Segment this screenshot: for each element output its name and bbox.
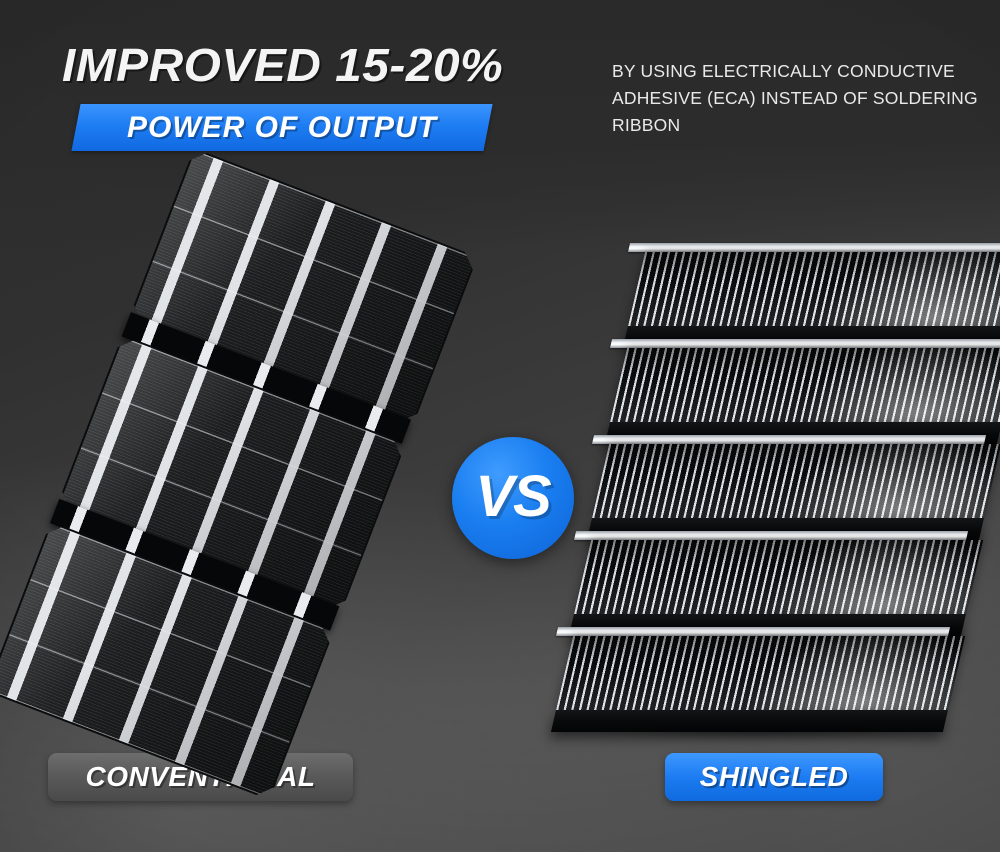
vs-badge-label: VS <box>475 463 550 530</box>
shingled-strip <box>628 252 1000 352</box>
strip-top-busbar <box>592 435 986 444</box>
power-output-banner: POWER OF OUTPUT <box>71 104 492 151</box>
strip-glow <box>628 252 1000 326</box>
comparison-infographic: IMPROVED 15-20% POWER OF OUTPUT BY USING… <box>0 0 1000 852</box>
subcopy-line-3: RIBBON <box>612 112 984 139</box>
strip-top-busbar <box>610 339 1000 348</box>
strip-glow <box>592 444 1000 518</box>
shingled-strip <box>610 348 1000 448</box>
page-headline: IMPROVED 15-20% <box>62 38 503 92</box>
shingled-caption-label: SHINGLED <box>700 761 849 793</box>
shingled-strip <box>556 636 948 736</box>
strip-top-busbar <box>556 627 950 636</box>
subcopy-line-1: BY USING ELECTRICALLY CONDUCTIVE <box>612 58 984 85</box>
shingled-caption-pill: SHINGLED <box>665 753 883 801</box>
strip-face <box>556 636 965 710</box>
shingled-panel-image <box>552 238 1000 748</box>
shingled-strip <box>592 444 984 544</box>
strip-shadow <box>560 728 955 742</box>
power-output-banner-label: POWER OF OUTPUT <box>76 104 488 151</box>
shingled-strip <box>574 540 966 640</box>
strip-glow <box>574 540 983 614</box>
conventional-panel-image <box>55 215 455 755</box>
strip-face <box>574 540 983 614</box>
strip-face <box>610 348 1000 422</box>
strip-glow <box>556 636 965 710</box>
subcopy-text: BY USING ELECTRICALLY CONDUCTIVE ADHESIV… <box>612 58 984 139</box>
strip-top-busbar <box>574 531 968 540</box>
conventional-cell-stack <box>0 148 474 834</box>
strip-face <box>628 252 1000 326</box>
vs-badge: VS <box>452 437 574 559</box>
strip-face <box>592 444 1000 518</box>
strip-glow <box>610 348 1000 422</box>
strip-top-busbar <box>628 243 1000 252</box>
subcopy-line-2: ADHESIVE (ECA) INSTEAD OF SOLDERING <box>612 85 984 112</box>
